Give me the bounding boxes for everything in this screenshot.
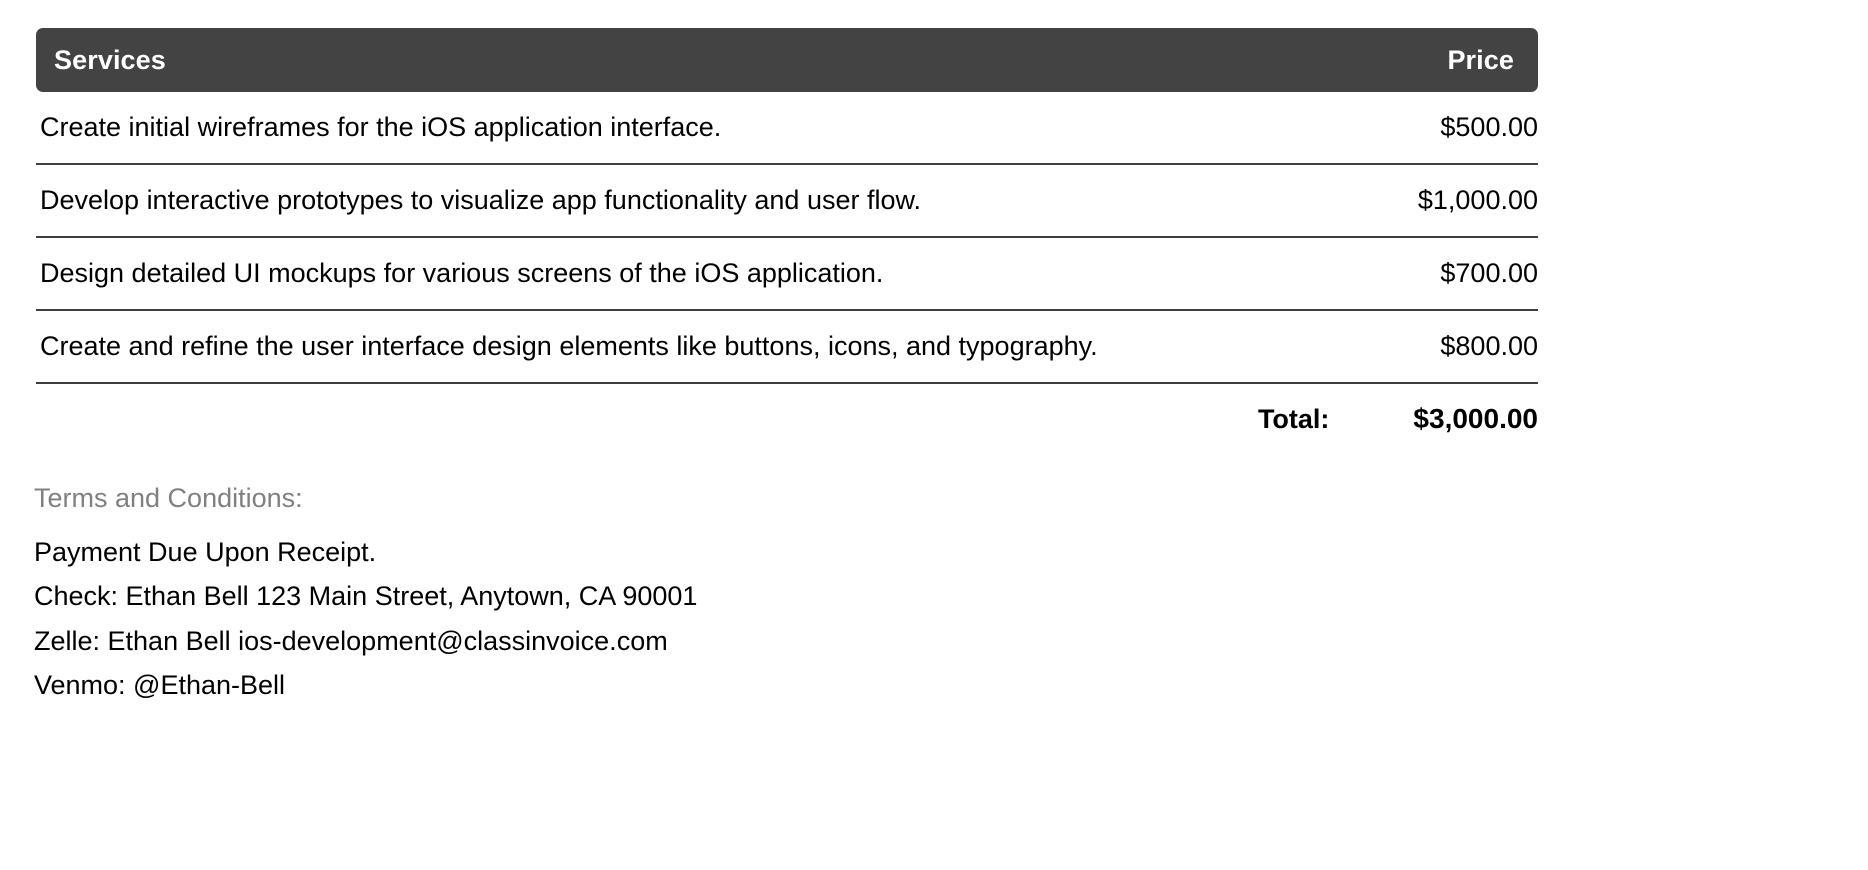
service-description: Create and refine the user interface des…: [40, 331, 1440, 362]
service-price: $700.00: [1440, 258, 1538, 289]
table-header-row: Services Price: [36, 28, 1538, 92]
terms-line-payment-due: Payment Due Upon Receipt.: [34, 530, 1534, 575]
service-description: Design detailed UI mockups for various s…: [40, 258, 1440, 289]
service-description: Develop interactive prototypes to visual…: [40, 185, 1418, 216]
table-row: Create and refine the user interface des…: [36, 311, 1538, 384]
terms-line-venmo: Venmo: @Ethan-Bell: [34, 663, 1534, 708]
invoice-document: Services Price Create initial wireframes…: [0, 0, 1868, 870]
total-row: Total: $3,000.00: [36, 384, 1538, 450]
terms-and-conditions-section: Terms and Conditions: Payment Due Upon R…: [34, 484, 1534, 708]
total-amount: $3,000.00: [1413, 403, 1538, 435]
terms-line-zelle: Zelle: Ethan Bell ios-development@classi…: [34, 619, 1534, 664]
terms-line-check: Check: Ethan Bell 123 Main Street, Anyto…: [34, 574, 1534, 619]
terms-heading: Terms and Conditions:: [34, 484, 1534, 514]
table-row: Develop interactive prototypes to visual…: [36, 165, 1538, 238]
service-price: $800.00: [1440, 331, 1538, 362]
services-table: Services Price Create initial wireframes…: [36, 28, 1538, 450]
total-label: Total:: [1258, 404, 1329, 435]
service-price: $500.00: [1440, 112, 1538, 143]
table-row: Design detailed UI mockups for various s…: [36, 238, 1538, 311]
table-row: Create initial wireframes for the iOS ap…: [36, 92, 1538, 165]
column-header-price: Price: [1447, 47, 1514, 74]
service-price: $1,000.00: [1418, 185, 1538, 216]
column-header-services: Services: [54, 47, 166, 74]
service-description: Create initial wireframes for the iOS ap…: [40, 112, 1440, 143]
